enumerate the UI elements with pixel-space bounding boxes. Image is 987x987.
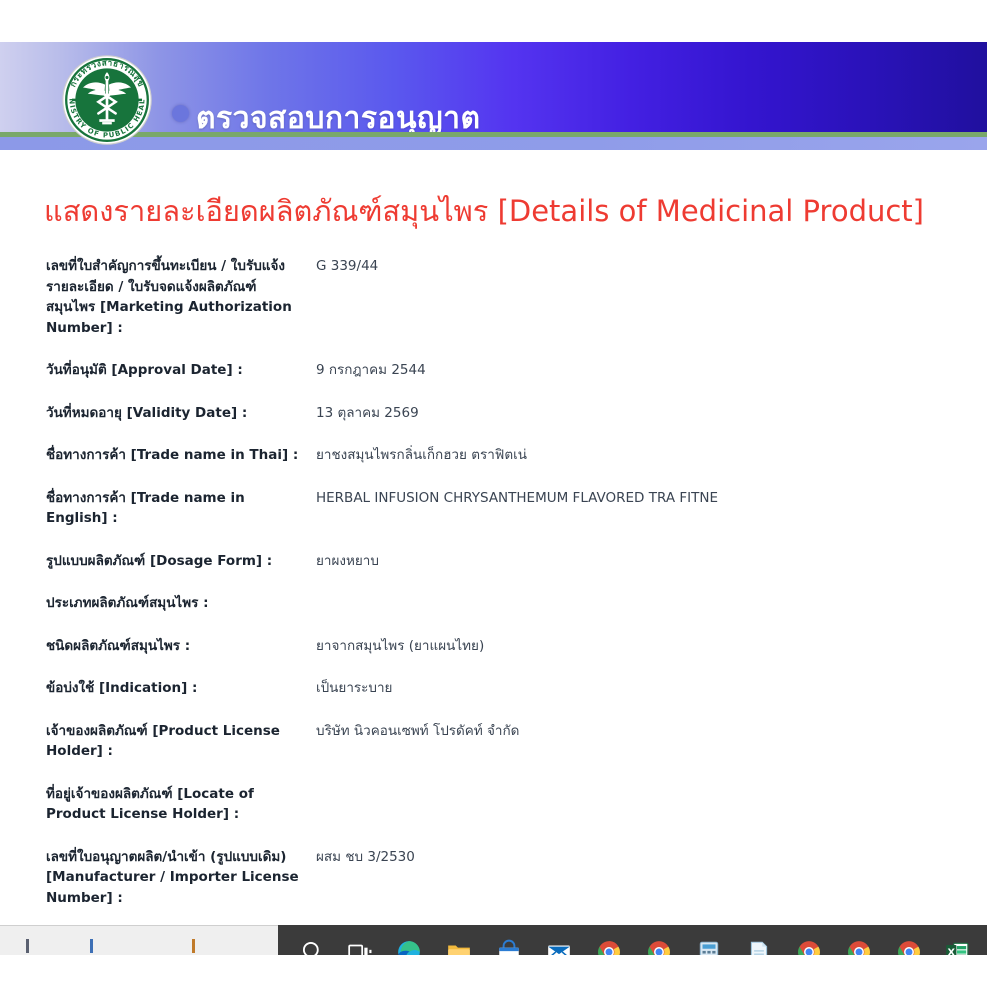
- text-cursor-mark: [90, 939, 93, 953]
- google-chrome-icon[interactable]: [646, 939, 672, 955]
- detail-row: ชนิดผลิตภัณฑ์สมุนไพร :ยาจากสมุนไพร (ยาแผ…: [0, 636, 987, 679]
- page-root: ตรวจสอบการอนุญาต สำนักงานคณะกรรมการอาหาร…: [0, 0, 987, 987]
- detail-row: เจ้าของผลิตภัณฑ์ [Product License Holder…: [0, 721, 987, 784]
- detail-value: [316, 593, 987, 636]
- detail-value: ยาผงหยาบ: [316, 551, 987, 594]
- detail-row: ที่อยู่เจ้าของผลิตภัณฑ์ [Locate of Produ…: [0, 784, 987, 847]
- text-cursor-mark: [192, 939, 195, 953]
- product-details-body: เลขที่ใบสำคัญการขึ้นทะเบียน / ใบรับแจ้งร…: [0, 256, 987, 930]
- product-details-table: เลขที่ใบสำคัญการขึ้นทะเบียน / ใบรับแจ้งร…: [0, 256, 987, 930]
- notepad-icon[interactable]: [746, 939, 772, 955]
- detail-value: G 339/44: [316, 256, 987, 360]
- detail-label: วันที่อนุมัติ [Approval Date] :: [0, 360, 316, 403]
- detail-value: บริษัท นิวคอนเซพท์ โปรดัคท์ จำกัด: [316, 721, 987, 784]
- google-chrome-icon[interactable]: [796, 939, 822, 955]
- calculator-icon[interactable]: [696, 939, 722, 955]
- microsoft-excel-icon[interactable]: X: [944, 939, 970, 955]
- detail-row: ข้อบ่งใช้ [Indication] :เป็นยาระบาย: [0, 678, 987, 721]
- microsoft-store-icon[interactable]: [496, 939, 522, 955]
- file-explorer-icon[interactable]: [446, 939, 472, 955]
- taskbar-left-marks: [0, 939, 278, 955]
- detail-value: เป็นยาระบาย: [316, 678, 987, 721]
- detail-value: ยาจากสมุนไพร (ยาแผนไทย): [316, 636, 987, 679]
- search-icon[interactable]: [300, 939, 326, 955]
- detail-row: รูปแบบผลิตภัณฑ์ [Dosage Form] :ยาผงหยาบ: [0, 551, 987, 594]
- taskbar-left-panel: [0, 925, 278, 955]
- ministry-of-public-health-logo-icon: กระทรวงสาธารณสุข MINISTRY OF PUBLIC HEAL…: [59, 48, 155, 152]
- detail-label: ประเภทผลิตภัณฑ์สมุนไพร :: [0, 593, 316, 636]
- detail-label: ข้อบ่งใช้ [Indication] :: [0, 678, 316, 721]
- detail-label: เลขที่ใบสำคัญการขึ้นทะเบียน / ใบรับแจ้งร…: [0, 256, 316, 360]
- detail-label: เลขที่ใบอนุญาตผลิต/นำเข้า (รูปแบบเดิม) […: [0, 847, 316, 931]
- detail-value: 13 ตุลาคม 2569: [316, 403, 987, 446]
- svg-text:X: X: [947, 947, 955, 955]
- bullet-dot-icon: [172, 105, 189, 122]
- google-chrome-icon[interactable]: [846, 939, 872, 955]
- detail-row: วันที่หมดอายุ [Validity Date] :13 ตุลาคม…: [0, 403, 987, 446]
- task-view-icon[interactable]: [347, 939, 373, 955]
- detail-label: ชื่อทางการค้า [Trade name in English] :: [0, 488, 316, 551]
- content-area: แสดงรายละเอียดผลิตภัณฑ์สมุนไพร [Details …: [0, 150, 987, 930]
- detail-row: ประเภทผลิตภัณฑ์สมุนไพร :: [0, 593, 987, 636]
- detail-value: ผสม ชบ 3/2530: [316, 847, 987, 931]
- detail-label: เจ้าของผลิตภัณฑ์ [Product License Holder…: [0, 721, 316, 784]
- detail-value: HERBAL INFUSION CHRYSANTHEMUM FLAVORED T…: [316, 488, 987, 551]
- text-cursor-mark: [26, 939, 29, 953]
- page-title: แสดงรายละเอียดผลิตภัณฑ์สมุนไพร [Details …: [44, 188, 987, 234]
- detail-row: วันที่อนุมัติ [Approval Date] :9 กรกฎาคม…: [0, 360, 987, 403]
- detail-row: ชื่อทางการค้า [Trade name in English] :H…: [0, 488, 987, 551]
- detail-label: ชนิดผลิตภัณฑ์สมุนไพร :: [0, 636, 316, 679]
- detail-label: รูปแบบผลิตภัณฑ์ [Dosage Form] :: [0, 551, 316, 594]
- google-chrome-icon[interactable]: [596, 939, 622, 955]
- google-chrome-icon[interactable]: [896, 939, 922, 955]
- detail-value: ยาชงสมุนไพรกลิ่นเก็กฮวย ตราฟิตเน่: [316, 445, 987, 488]
- mail-icon[interactable]: [546, 939, 572, 955]
- detail-row: ชื่อทางการค้า [Trade name in Thai] :ยาชง…: [0, 445, 987, 488]
- microsoft-edge-icon[interactable]: [396, 939, 422, 955]
- detail-value: [316, 784, 987, 847]
- detail-row: เลขที่ใบอนุญาตผลิต/นำเข้า (รูปแบบเดิม) […: [0, 847, 987, 931]
- detail-label: วันที่หมดอายุ [Validity Date] :: [0, 403, 316, 446]
- windows-taskbar[interactable]: X: [0, 925, 987, 955]
- taskbar-icons-panel[interactable]: X: [278, 925, 987, 955]
- detail-label: ที่อยู่เจ้าของผลิตภัณฑ์ [Locate of Produ…: [0, 784, 316, 847]
- detail-value: 9 กรกฎาคม 2544: [316, 360, 987, 403]
- detail-label: ชื่อทางการค้า [Trade name in Thai] :: [0, 445, 316, 488]
- detail-row: เลขที่ใบสำคัญการขึ้นทะเบียน / ใบรับแจ้งร…: [0, 256, 987, 360]
